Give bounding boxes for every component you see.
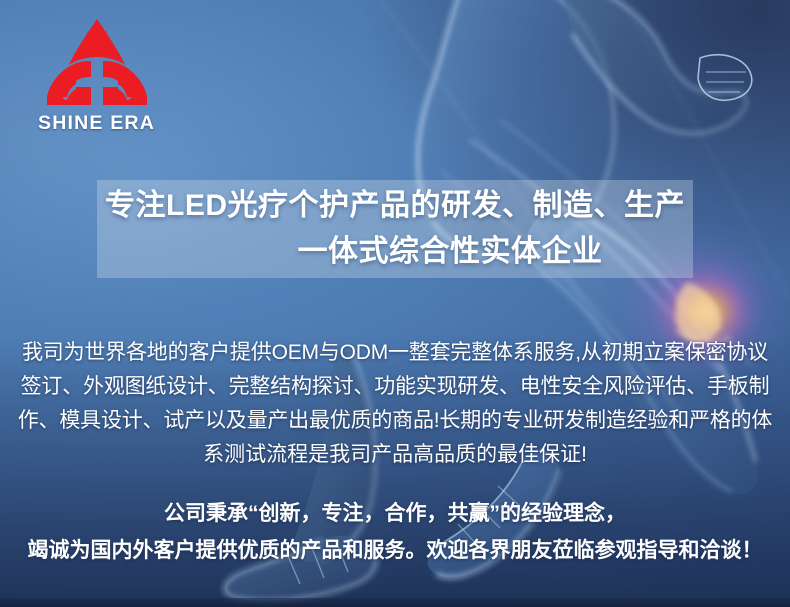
headline: 专注LED光疗个护产品的研发、制造、生产 一体式综合性实体企业 — [97, 180, 693, 278]
shine-era-shield-logo — [43, 17, 151, 109]
brand-logo-block[interactable]: SHINE ERA — [34, 17, 159, 135]
brand-wordmark: SHINE ERA — [34, 112, 159, 135]
body-line-2: 签订、外观图纸设计、完整结构探讨、功能实现研发、电性安全风险评估、手板制 — [14, 370, 776, 404]
body-line-4: 系测试流程是我司产品高品质的最佳保证! — [14, 438, 776, 472]
promotional-banner: SHINE ERA 专注LED光疗个护产品的研发、制造、生产 一体式综合性实体企… — [0, 0, 790, 607]
closing-line-2: 竭诚为国内外客户提供优质的产品和服务。欢迎各界朋友莅临参观指导和洽谈！ — [14, 532, 776, 569]
body-line-1: 我司为世界各地的客户提供OEM与ODM一整套完整体系服务,从初期立案保密协议 — [14, 336, 776, 370]
closing-paragraph: 公司秉承“创新，专注，合作，共赢”的经验理念， 竭诚为国内外客户提供优质的产品和… — [14, 495, 776, 569]
body-paragraph: 我司为世界各地的客户提供OEM与ODM一整套完整体系服务,从初期立案保密协议 签… — [14, 336, 776, 472]
headline-line-1: 专注LED光疗个护产品的研发、制造、生产 — [105, 183, 685, 229]
background-bottom-strip — [0, 598, 790, 607]
body-line-3: 作、模具设计、试产以及量产出最优质的商品!长期的专业研发制造经验和严格的体 — [14, 404, 776, 438]
sun-icon — [84, 28, 110, 54]
closing-line-1: 公司秉承“创新，专注，合作，共赢”的经验理念， — [14, 495, 776, 532]
headline-line-2: 一体式综合性实体企业 — [188, 229, 603, 275]
